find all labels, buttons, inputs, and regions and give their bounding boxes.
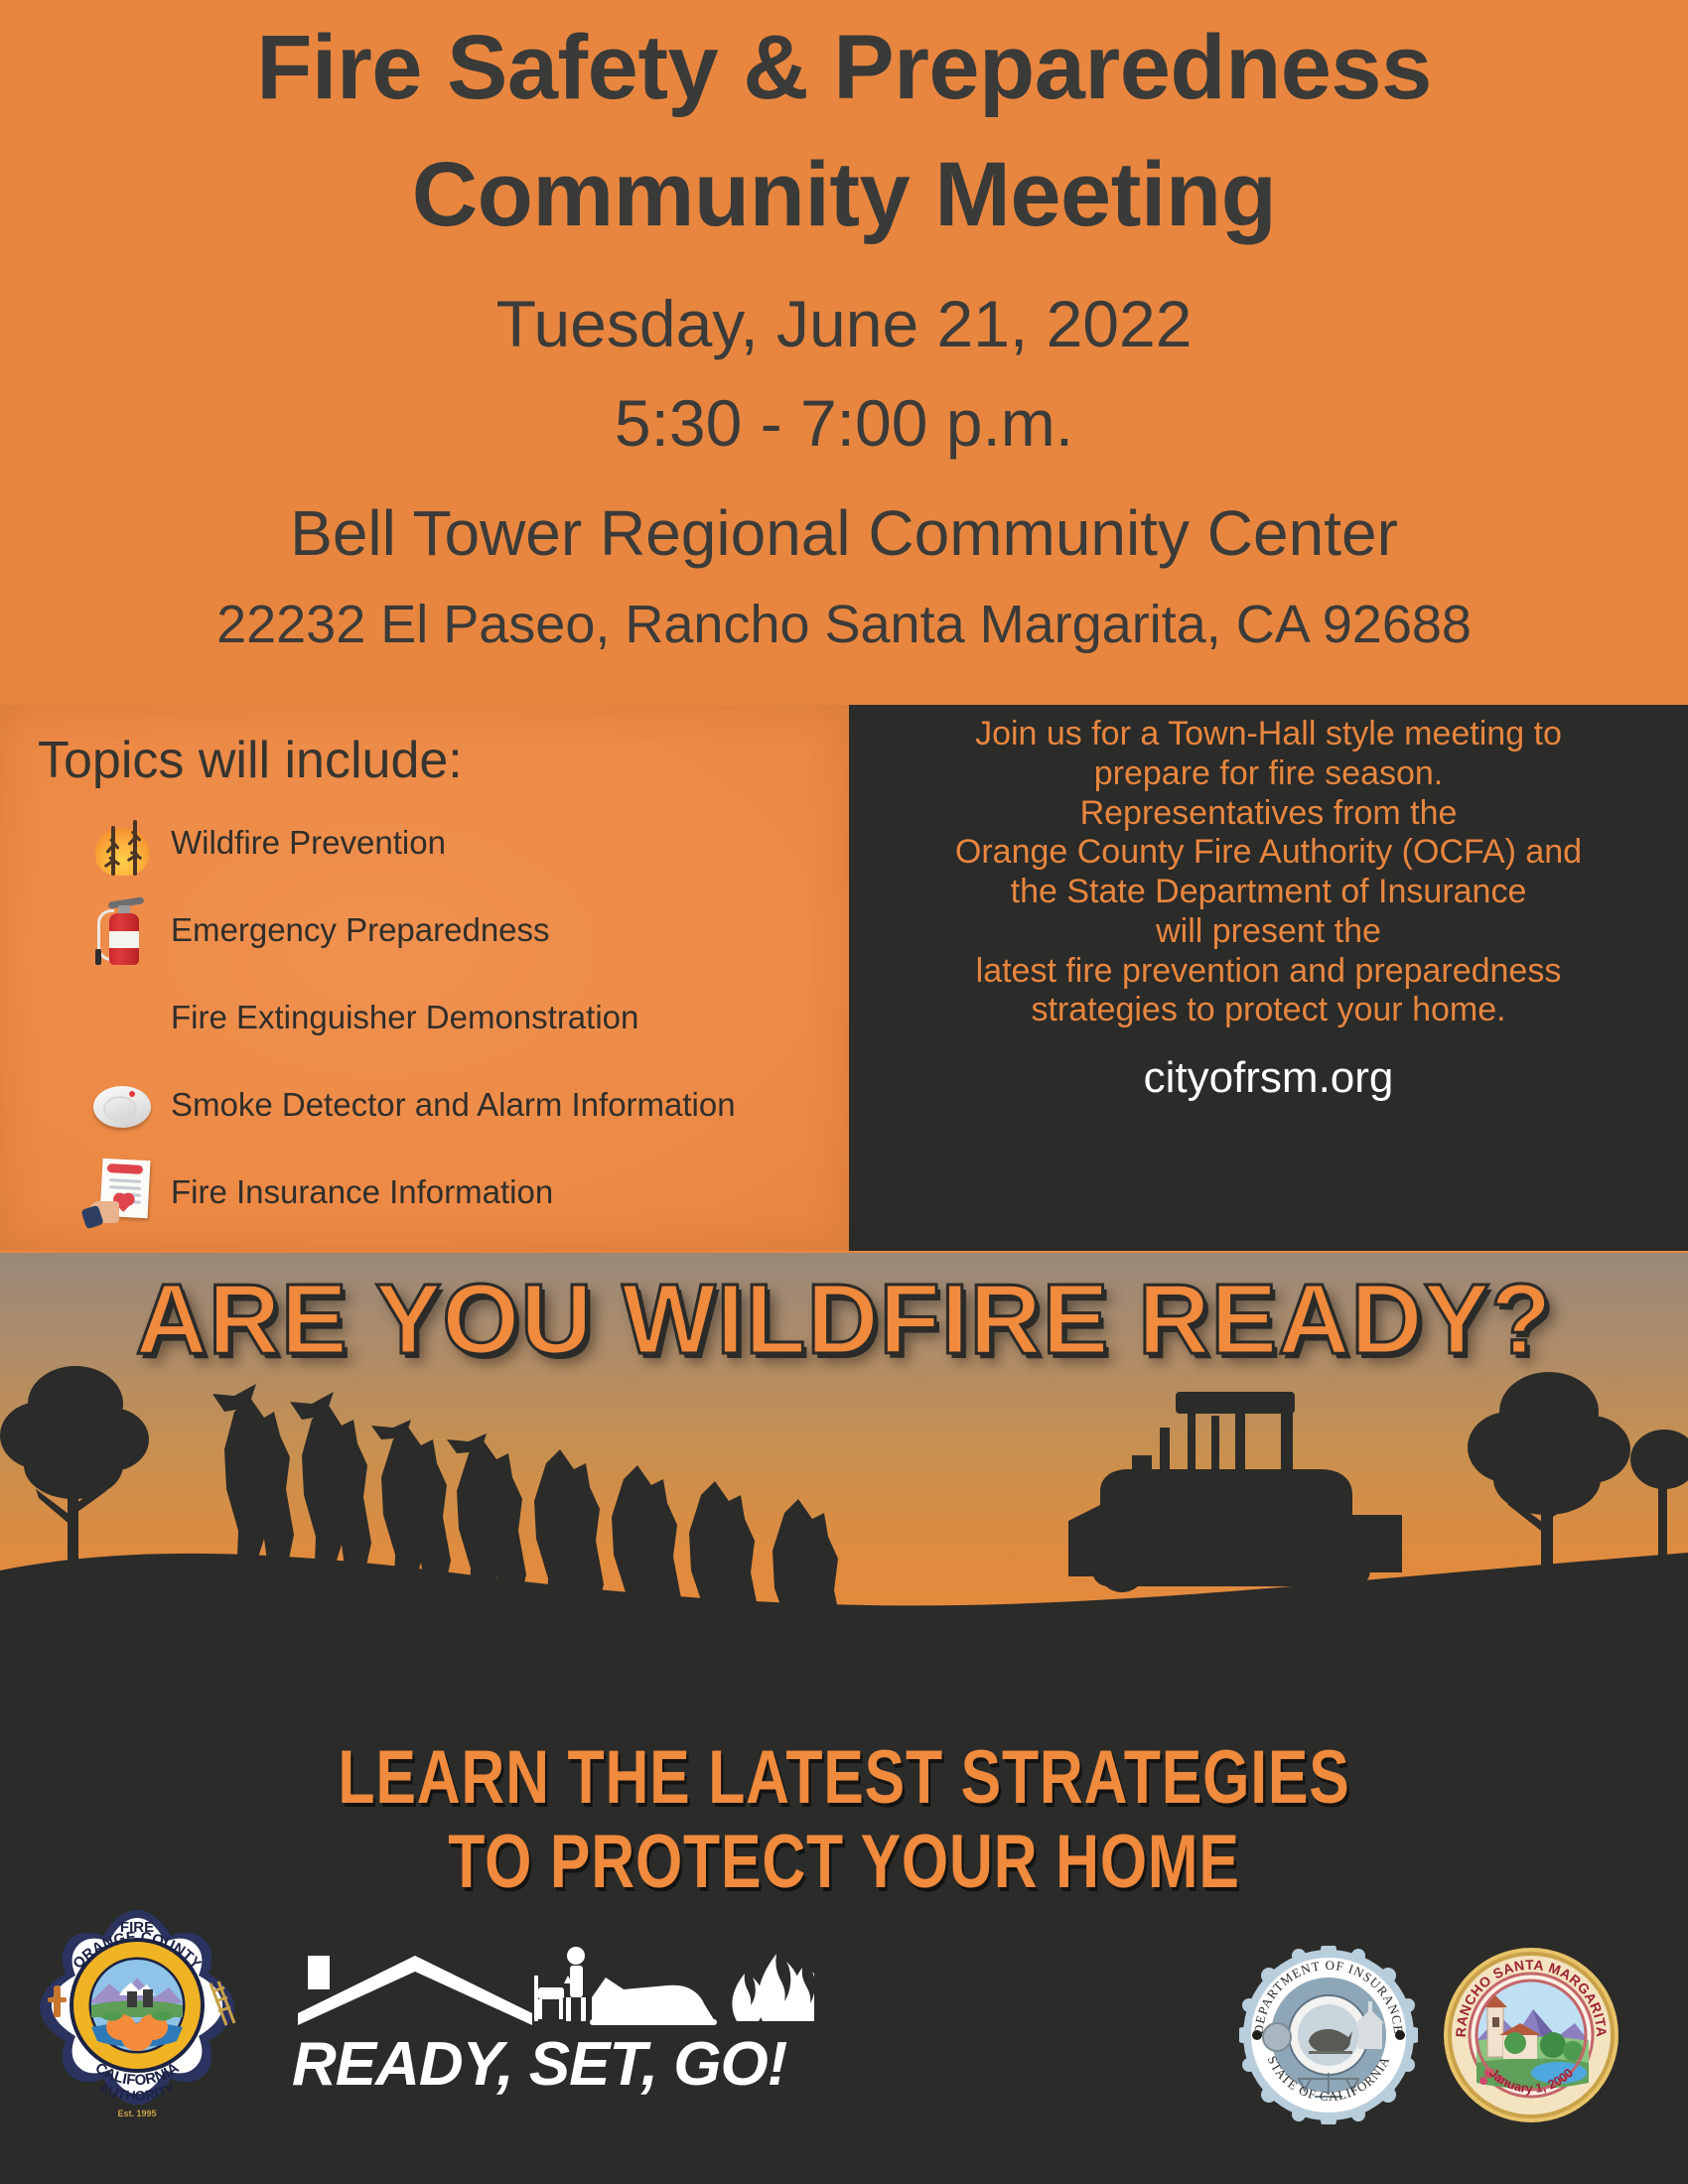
smoke-detector-icon <box>87 1066 157 1144</box>
topic-item-wildfire-prevention: Wildfire Prevention <box>87 804 446 882</box>
topic-label: Fire Insurance Information <box>171 1173 553 1211</box>
ocfa-established-text: Est. 1995 <box>117 2109 156 2118</box>
california-department-of-insurance-seal: DEPARTMENT OF INSURANCE STATE OF CALIFOR… <box>1239 1946 1418 2124</box>
description-line: Representatives from the <box>849 794 1688 834</box>
callout-line-1: LEARN THE LATEST STRATEGIES <box>169 1735 1519 1820</box>
topic-label: Smoke Detector and Alarm Information <box>171 1086 736 1124</box>
flyer-page: Fire Safety & Preparedness Community Mee… <box>0 0 1688 2184</box>
burning-trees-icon <box>87 804 157 882</box>
callout-line-2: TO PROTECT YOUR HOME <box>169 1820 1519 1904</box>
rancho-santa-margarita-city-seal: RANCHO SANTA MARGARITA January 1, 2000 <box>1442 1946 1620 2124</box>
description-line: Join us for a Town-Hall style meeting to <box>849 715 1688 754</box>
description-line: the State Department of Insurance <box>849 873 1688 912</box>
description-line: prepare for fire season. <box>849 754 1688 794</box>
topics-heading: Topics will include: <box>38 731 463 790</box>
description-line: latest fire prevention and preparedness <box>849 952 1688 992</box>
topic-item-fire-insurance: Fire Insurance Information <box>87 1154 553 1231</box>
ocfa-fire-text: FIRE <box>120 1919 154 1936</box>
description-line: strategies to protect your home. <box>849 991 1688 1030</box>
callout-text: LEARN THE LATEST STRATEGIES TO PROTECT Y… <box>169 1735 1519 1904</box>
topic-label: Emergency Preparedness <box>171 911 550 949</box>
page-title-line-2: Community Meeting <box>0 149 1688 240</box>
topic-label: Wildfire Prevention <box>171 824 446 862</box>
ready-set-go-logo: READY, SET, GO! <box>278 1934 814 2103</box>
header-section: Fire Safety & Preparedness Community Mee… <box>0 0 1688 705</box>
ready-set-go-text: READY, SET, GO! <box>292 2030 787 2099</box>
website-link[interactable]: cityofrsm.org <box>849 1052 1688 1103</box>
lower-section: LEARN THE LATEST STRATEGIES TO PROTECT Y… <box>0 1668 1688 2184</box>
event-date: Tuesday, June 21, 2022 <box>0 286 1688 361</box>
topics-panel: Topics will include: Wildfire Preve <box>0 705 849 1251</box>
description-line: Orange County Fire Authority (OCFA) and <box>849 833 1688 873</box>
topic-item-fire-extinguisher-demo: Fire Extinguisher Demonstration <box>87 979 638 1056</box>
topic-item-smoke-detector: Smoke Detector and Alarm Information <box>87 1066 736 1144</box>
description-panel: Join us for a Town-Hall style meeting to… <box>849 705 1688 1251</box>
insurance-document-icon <box>87 1154 157 1231</box>
description-line: will present the <box>849 912 1688 952</box>
page-title-line-1: Fire Safety & Preparedness <box>0 22 1688 113</box>
event-venue: Bell Tower Regional Community Center <box>0 496 1688 570</box>
fire-extinguisher-icon <box>87 891 157 969</box>
wildfire-banner: ARE YOU WILDFIRE READY? <box>0 1253 1688 1668</box>
topic-label: Fire Extinguisher Demonstration <box>171 999 638 1036</box>
topic-item-emergency-preparedness: Emergency Preparedness <box>87 891 550 969</box>
firefighter-silhouette-artwork <box>0 1340 1688 1668</box>
topic-icon-spacer <box>87 979 157 1056</box>
event-time: 5:30 - 7:00 p.m. <box>0 385 1688 461</box>
event-address: 22232 El Paseo, Rancho Santa Margarita, … <box>0 594 1688 655</box>
orange-county-fire-authority-seal: ORANGE COUNTY CALIFORNIA AUTHORITY FIRE … <box>28 1906 246 2124</box>
